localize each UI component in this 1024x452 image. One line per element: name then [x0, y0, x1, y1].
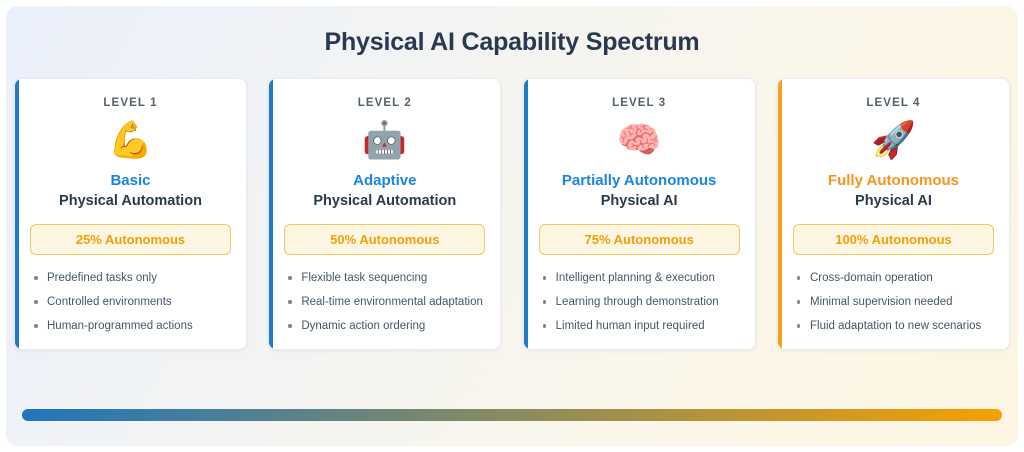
level-label: LEVEL 1	[103, 97, 157, 109]
card-heading-secondary: Physical Automation	[59, 191, 202, 211]
list-item-label: Intelligent planning & execution	[556, 272, 715, 284]
card-accent-bar	[269, 79, 273, 349]
card-heading-primary: Fully Autonomous	[828, 171, 959, 191]
card-heading-primary: Basic	[59, 171, 202, 191]
list-item-label: Controlled environments	[47, 296, 172, 308]
list-item-label: Minimal supervision needed	[810, 296, 953, 308]
list-item: Fluid adaptation to new scenarios	[793, 319, 994, 333]
feature-list: Flexible task sequencing Real-time envir…	[284, 271, 485, 333]
bullet-dot	[288, 300, 292, 304]
card-heading: Adaptive Physical Automation	[313, 171, 456, 211]
list-item-label: Dynamic action ordering	[301, 320, 425, 332]
feature-list: Predefined tasks only Controlled environ…	[30, 271, 231, 333]
page-root: Physical AI Capability Spectrum LEVEL 1 …	[0, 0, 1024, 452]
list-item-label: Fluid adaptation to new scenarios	[810, 320, 981, 332]
list-item-label: Human-programmed actions	[47, 320, 193, 332]
page-title: Physical AI Capability Spectrum	[325, 6, 700, 57]
list-item-label: Real-time environmental adaptation	[301, 296, 483, 308]
bullet-dot	[288, 324, 292, 328]
card-heading-primary: Partially Autonomous	[562, 171, 716, 191]
card-heading-secondary: Physical AI	[562, 191, 716, 211]
list-item: Limited human input required	[539, 319, 740, 333]
card-heading: Basic Physical Automation	[59, 171, 202, 211]
capability-card-level-4[interactable]: LEVEL 4 🚀 Fully Autonomous Physical AI 1…	[777, 78, 1010, 350]
list-item: Flexible task sequencing	[284, 271, 485, 285]
card-heading: Fully Autonomous Physical AI	[828, 171, 959, 211]
card-accent-bar	[524, 79, 528, 349]
card-heading-secondary: Physical AI	[828, 191, 959, 211]
level-label: LEVEL 2	[358, 97, 412, 109]
list-item: Real-time environmental adaptation	[284, 295, 485, 309]
bullet-dot	[797, 276, 801, 280]
capability-card-level-2[interactable]: LEVEL 2 🤖 Adaptive Physical Automation 5…	[268, 78, 501, 350]
card-heading: Partially Autonomous Physical AI	[562, 171, 716, 211]
card-heading-secondary: Physical Automation	[313, 191, 456, 211]
capability-spectrum-gradient-bar	[22, 409, 1002, 421]
list-item: Predefined tasks only	[30, 271, 231, 285]
list-item: Minimal supervision needed	[793, 295, 994, 309]
list-item-label: Cross-domain operation	[810, 272, 933, 284]
card-accent-bar	[778, 79, 782, 349]
list-item: Cross-domain operation	[793, 271, 994, 285]
autonomy-badge: 50% Autonomous	[284, 224, 485, 255]
autonomy-badge: 100% Autonomous	[793, 224, 994, 255]
card-accent-bar	[15, 79, 19, 349]
list-item-label: Flexible task sequencing	[301, 272, 427, 284]
list-item-label: Learning through demonstration	[556, 296, 719, 308]
robot-icon: 🤖	[362, 118, 407, 162]
rocket-icon: 🚀	[871, 118, 916, 162]
infographic-panel: Physical AI Capability Spectrum LEVEL 1 …	[6, 6, 1018, 446]
capability-cards-row: LEVEL 1 💪 Basic Physical Automation 25% …	[14, 78, 1010, 350]
list-item: Controlled environments	[30, 295, 231, 309]
level-label: LEVEL 3	[612, 97, 666, 109]
feature-list: Intelligent planning & execution Learnin…	[539, 271, 740, 333]
bullet-dot	[797, 300, 801, 304]
spectrum-bar-container	[6, 409, 1018, 421]
bullet-dot	[34, 300, 38, 304]
flexed-biceps-icon: 💪	[108, 118, 153, 162]
bullet-dot	[543, 324, 547, 328]
capability-card-level-3[interactable]: LEVEL 3 🧠 Partially Autonomous Physical …	[523, 78, 756, 350]
list-item: Learning through demonstration	[539, 295, 740, 309]
autonomy-badge: 75% Autonomous	[539, 224, 740, 255]
bullet-dot	[34, 276, 38, 280]
card-heading-primary: Adaptive	[313, 171, 456, 191]
bullet-dot	[288, 276, 292, 280]
autonomy-badge: 25% Autonomous	[30, 224, 231, 255]
bullet-dot	[543, 300, 547, 304]
feature-list: Cross-domain operation Minimal supervisi…	[793, 271, 994, 333]
list-item: Intelligent planning & execution	[539, 271, 740, 285]
level-label: LEVEL 4	[866, 97, 920, 109]
list-item-label: Limited human input required	[556, 320, 705, 332]
brain-icon: 🧠	[617, 118, 662, 162]
list-item-label: Predefined tasks only	[47, 272, 157, 284]
list-item: Human-programmed actions	[30, 319, 231, 333]
list-item: Dynamic action ordering	[284, 319, 485, 333]
bullet-dot	[34, 324, 38, 328]
capability-card-level-1[interactable]: LEVEL 1 💪 Basic Physical Automation 25% …	[14, 78, 247, 350]
bullet-dot	[543, 276, 547, 280]
bullet-dot	[797, 324, 801, 328]
